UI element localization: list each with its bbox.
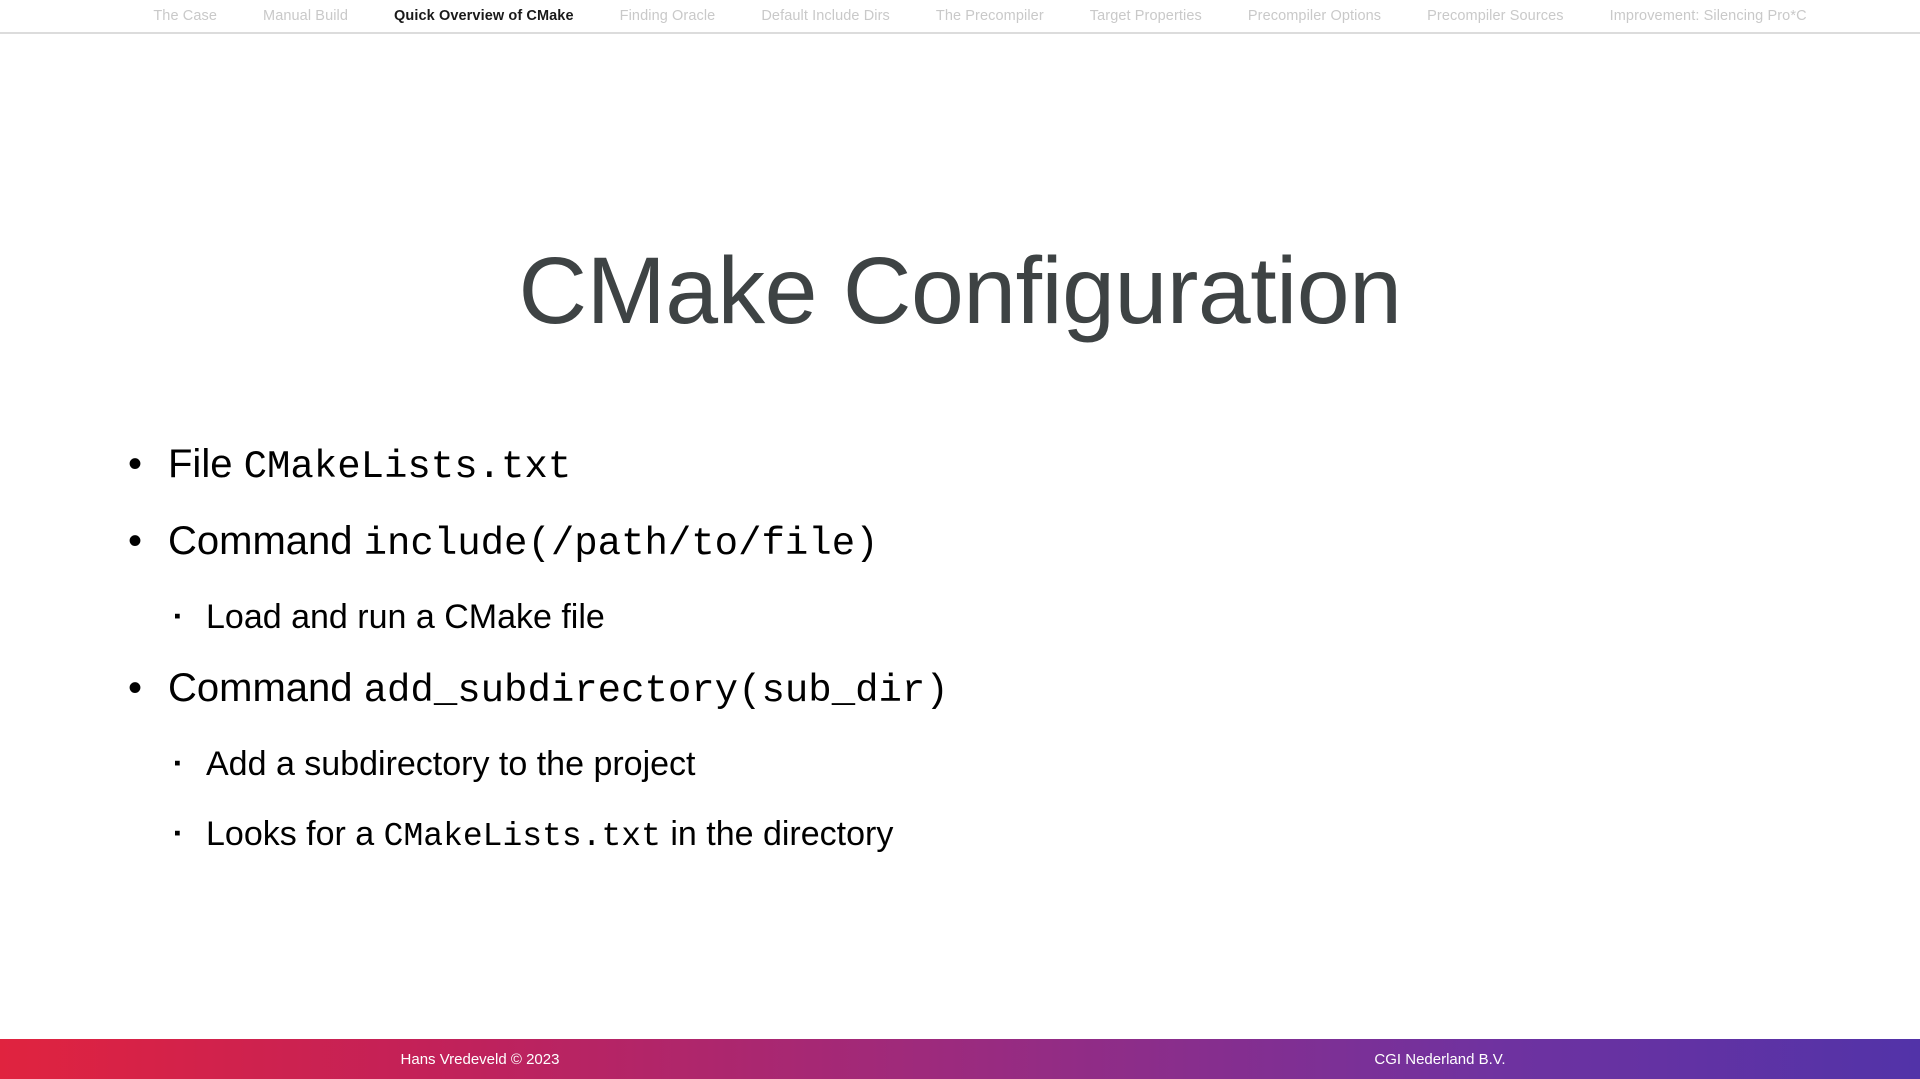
nav-item-list: The CaseManual BuildQuick Overview of CM…	[113, 6, 1806, 26]
bullet-square-icon: ▪	[174, 607, 206, 626]
bullet-text: Command add_subdirectory(sub_dir)	[168, 653, 949, 726]
bullet-square-icon: ▪	[174, 824, 206, 843]
nav-item-manual-build[interactable]: Manual Build	[263, 6, 348, 26]
bullet-item-level2: ▪Load and run a CMake file	[128, 583, 1728, 651]
slide-title: CMake Configuration	[0, 244, 1920, 339]
text-span: Looks for a	[206, 815, 384, 853]
bullet-text: Load and run a CMake file	[206, 583, 605, 651]
nav-item-precompiler-options[interactable]: Precompiler Options	[1248, 6, 1381, 26]
text-span: Load and run a CMake file	[206, 598, 605, 636]
footer-copyright: Hans Vredeveld © 2023	[0, 1039, 960, 1079]
nav-item-finding-oracle[interactable]: Finding Oracle	[620, 6, 716, 26]
nav-item-default-include-dirs[interactable]: Default Include Dirs	[761, 6, 890, 26]
top-navigation-bar: The CaseManual BuildQuick Overview of CM…	[0, 0, 1920, 34]
bullet-item-level2: ▪Looks for a CMakeLists.txt in the direc…	[128, 800, 1728, 871]
bullet-item-level1: •Command add_subdirectory(sub_dir)	[128, 653, 1728, 726]
bullet-item-level1: •File CMakeLists.txt	[128, 429, 1728, 502]
nav-item-target-properties[interactable]: Target Properties	[1090, 6, 1202, 26]
code-span: CMakeLists.txt	[384, 818, 661, 855]
bullet-text: Command include(/path/to/file)	[168, 506, 879, 579]
text-span: in the directory	[661, 815, 893, 853]
bullet-text: Looks for a CMakeLists.txt in the direct…	[206, 800, 893, 871]
code-span: add_subdirectory(sub_dir)	[364, 669, 949, 713]
footer-company: CGI Nederland B.V.	[960, 1039, 1920, 1079]
nav-item-improvement-silencing-pro-c[interactable]: Improvement: Silencing Pro*C	[1610, 6, 1807, 26]
nav-item-quick-overview-of-cmake[interactable]: Quick Overview of CMake	[394, 6, 574, 26]
bullet-square-icon: ▪	[174, 754, 206, 773]
text-span: Command	[168, 519, 364, 563]
bullet-item-level1: •Command include(/path/to/file)	[128, 506, 1728, 579]
bullet-dot-icon: •	[128, 668, 168, 708]
nav-item-the-case[interactable]: The Case	[153, 6, 217, 26]
bullet-text: File CMakeLists.txt	[168, 429, 571, 502]
bullet-dot-icon: •	[128, 521, 168, 561]
bullet-dot-icon: •	[128, 444, 168, 484]
nav-item-precompiler-sources[interactable]: Precompiler Sources	[1427, 6, 1563, 26]
text-span: Add a subdirectory to the project	[206, 745, 696, 783]
text-span: File	[168, 442, 244, 486]
code-span: include(/path/to/file)	[364, 522, 879, 566]
bullet-list: •File CMakeLists.txt•Command include(/pa…	[128, 429, 1728, 873]
slide-footer: Hans Vredeveld © 2023 CGI Nederland B.V.	[0, 1039, 1920, 1079]
bullet-item-level2: ▪Add a subdirectory to the project	[128, 730, 1728, 798]
code-span: CMakeLists.txt	[244, 445, 572, 489]
text-span: Command	[168, 666, 364, 710]
slide-canvas: CMake Configuration •File CMakeLists.txt…	[0, 34, 1920, 1039]
nav-item-the-precompiler[interactable]: The Precompiler	[936, 6, 1044, 26]
bullet-text: Add a subdirectory to the project	[206, 730, 696, 798]
